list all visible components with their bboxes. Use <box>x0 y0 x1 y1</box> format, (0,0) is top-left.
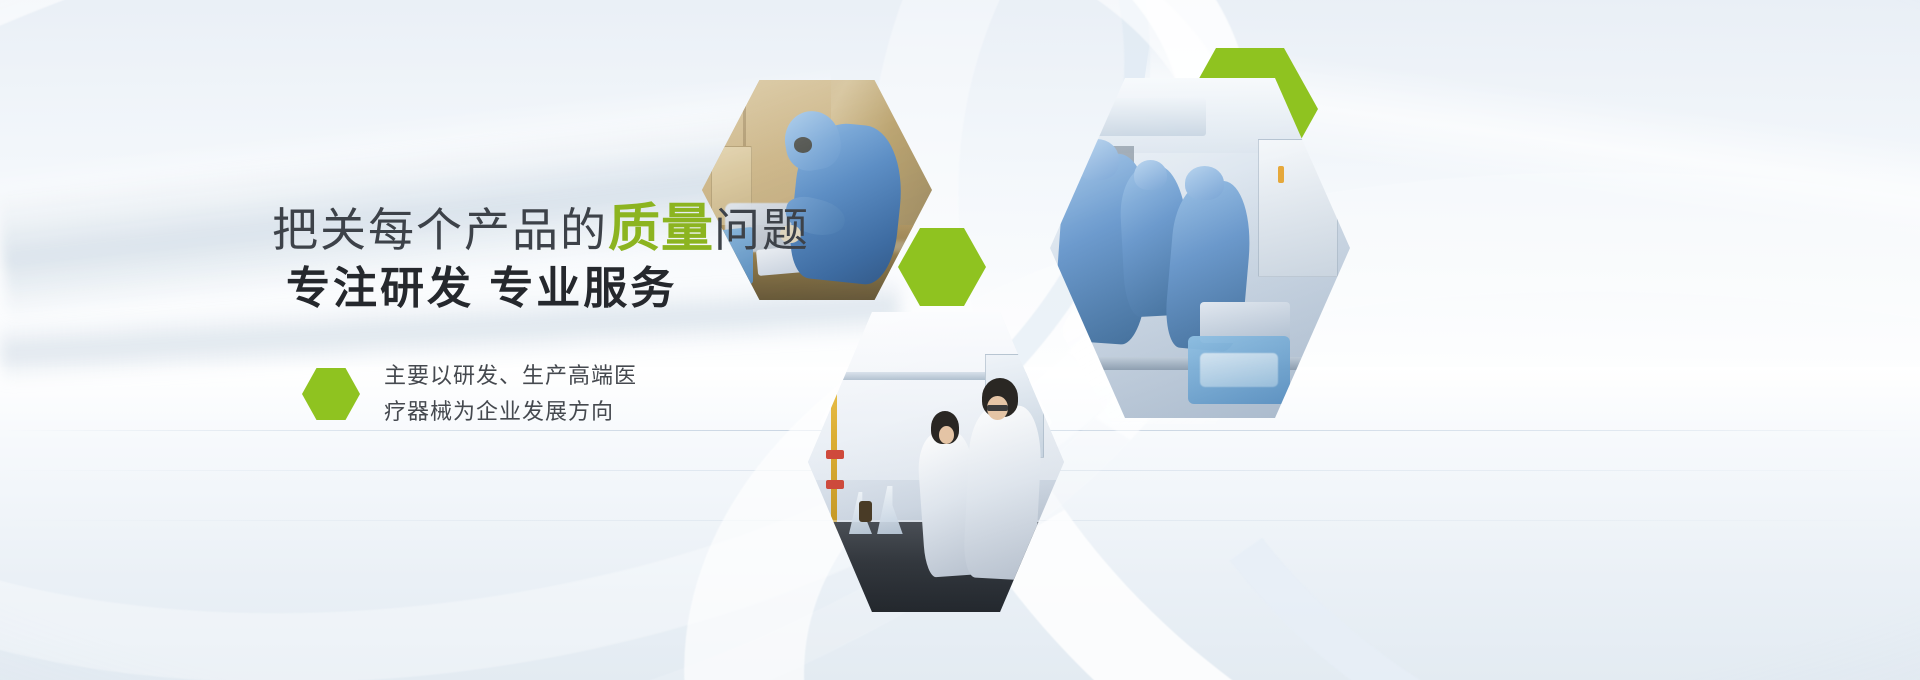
hexagon-bullet-icon <box>302 368 360 420</box>
headline-suffix: 问题 <box>714 204 810 256</box>
subtext-line-2: 疗器械为企业发展方向 <box>384 394 637 430</box>
headline-accent: 质量 <box>608 200 714 258</box>
headline-line-2: 专注研发 专业服务 <box>286 252 677 316</box>
subtext-block: 主要以研发、生产高端医 疗器械为企业发展方向 <box>302 358 637 430</box>
hero-banner: 安 全 门 <box>0 0 1920 680</box>
background-vignette <box>0 0 1920 680</box>
headline-line-1: 把关每个产品的质量问题 <box>272 186 810 261</box>
subtext: 主要以研发、生产高端医 疗器械为企业发展方向 <box>384 358 637 430</box>
subtext-line-1: 主要以研发、生产高端医 <box>384 358 637 394</box>
headline-prefix: 把关每个产品的 <box>272 204 608 256</box>
